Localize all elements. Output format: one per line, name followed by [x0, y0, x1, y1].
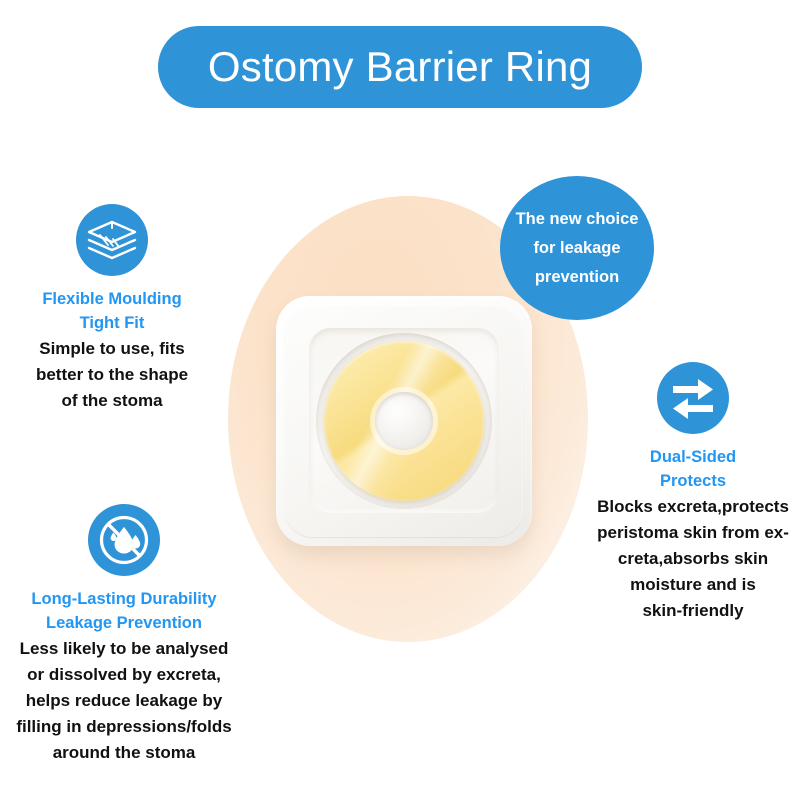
dual-arrows-icon: [657, 362, 729, 434]
new-choice-badge: The new choice for leakage prevention: [500, 176, 654, 320]
badge-line-2: for leakage: [533, 234, 620, 263]
product-ring-seat: [316, 333, 492, 509]
feature-dual-sided-protects: Dual-Sided Protects Blocks excreta,prote…: [586, 362, 800, 624]
feature-durable-body: Less likely to be analysed or dissolved …: [0, 636, 248, 766]
feature-durable-heading: Long-Lasting Durability Leakage Preventi…: [0, 587, 248, 635]
feature-dualsided-body-line-3: creta,absorbs skin: [586, 546, 800, 572]
ostomy-barrier-ring-product: [276, 296, 532, 546]
product-tray-well: [309, 328, 499, 513]
feature-dualsided-body-line-5: skin-friendly: [586, 598, 800, 624]
feature-durable-heading-line-2: Leakage Prevention: [0, 611, 248, 635]
feature-dualsided-heading-line-2: Protects: [586, 469, 800, 493]
feature-durable-body-line-5: around the stoma: [0, 740, 248, 766]
feature-flexible-moulding: Flexible Moulding Tight Fit Simple to us…: [6, 204, 218, 414]
page-title: Ostomy Barrier Ring: [208, 46, 592, 88]
feature-durable-body-line-1: Less likely to be analysed: [0, 636, 248, 662]
page-title-banner: Ostomy Barrier Ring: [158, 26, 642, 108]
product-tray-outer: [276, 296, 532, 546]
feature-dualsided-body-line-4: moisture and is: [586, 572, 800, 598]
feature-durable-body-line-3: helps reduce leakage by: [0, 688, 248, 714]
feature-dualsided-body: Blocks excreta,protects peristoma skin f…: [586, 494, 800, 624]
feature-dualsided-body-line-2: peristoma skin from ex-: [586, 520, 800, 546]
feature-durable-heading-line-1: Long-Lasting Durability: [0, 587, 248, 611]
feature-flexible-body-line-2: better to the shape: [6, 362, 218, 388]
badge-line-1: The new choice: [516, 205, 639, 234]
feature-dualsided-body-line-1: Blocks excreta,protects: [586, 494, 800, 520]
no-water-droplet-icon: [88, 504, 160, 576]
feature-dualsided-heading: Dual-Sided Protects: [586, 445, 800, 493]
feature-dualsided-heading-line-1: Dual-Sided: [586, 445, 800, 469]
feature-long-lasting-durability: Long-Lasting Durability Leakage Preventi…: [0, 504, 248, 766]
feature-durable-body-line-2: or dissolved by excreta,: [0, 662, 248, 688]
ring-center-hole: [375, 392, 433, 450]
stacked-layers-icon: [76, 204, 148, 276]
feature-flexible-heading-line-2: Tight Fit: [6, 311, 218, 335]
feature-durable-body-line-4: filling in depressions/folds: [0, 714, 248, 740]
product-tray-lip: [285, 305, 523, 537]
feature-flexible-body-line-3: of the stoma: [6, 388, 218, 414]
barrier-ring: [324, 341, 484, 501]
feature-flexible-body: Simple to use, fits better to the shape …: [6, 336, 218, 414]
feature-flexible-heading-line-1: Flexible Moulding: [6, 287, 218, 311]
badge-line-3: prevention: [535, 263, 619, 292]
feature-flexible-body-line-1: Simple to use, fits: [6, 336, 218, 362]
feature-flexible-heading: Flexible Moulding Tight Fit: [6, 287, 218, 335]
